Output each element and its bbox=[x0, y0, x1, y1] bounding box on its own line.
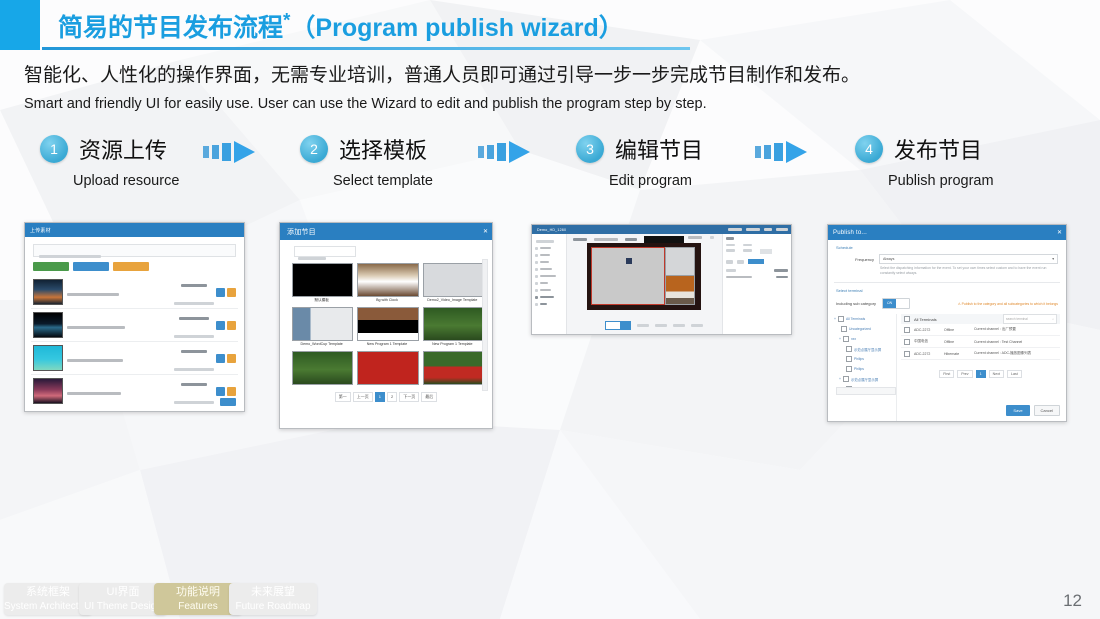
row-delete-button[interactable] bbox=[227, 288, 236, 297]
template-thumbnail bbox=[423, 263, 484, 297]
timeline-seg-3[interactable] bbox=[673, 324, 685, 327]
property-row bbox=[726, 244, 788, 247]
toolbar-item-preview[interactable] bbox=[625, 238, 637, 241]
terminal-search-placeholder: search terminal bbox=[1006, 317, 1028, 321]
pager-prev[interactable]: Prev bbox=[957, 370, 972, 378]
scrollbar-horizontal[interactable] bbox=[836, 387, 896, 395]
file-size bbox=[172, 373, 216, 409]
palette-heading bbox=[536, 240, 554, 243]
pager-page-1[interactable]: 1 bbox=[976, 370, 986, 378]
template-card[interactable]: 默认模板 bbox=[292, 263, 351, 303]
property-tabs bbox=[726, 259, 788, 264]
pager-next[interactable]: 下一页 bbox=[399, 392, 419, 402]
pager-first[interactable]: 第一 bbox=[335, 392, 351, 402]
terminal-table-header-label: All Terminals bbox=[914, 317, 937, 322]
template-card[interactable]: Demo2_Video_Image Template bbox=[423, 263, 482, 303]
toolbar-item-region[interactable] bbox=[594, 238, 618, 241]
file-name bbox=[67, 349, 172, 367]
step-label-cn: 资源上传 bbox=[79, 133, 167, 165]
upload-action-buttons bbox=[33, 262, 236, 271]
screenshot-publish-program[interactable]: Publish to... ✕ Schedule Frequency Alway… bbox=[827, 224, 1067, 422]
template-thumbnail bbox=[423, 307, 484, 341]
titlebar-actions bbox=[728, 228, 791, 231]
include-subcategory-label: Including sub category bbox=[836, 301, 876, 306]
editor-body bbox=[532, 234, 791, 334]
step-label-cn: 选择模板 bbox=[339, 133, 427, 165]
row-edit-button[interactable] bbox=[216, 321, 225, 330]
stage-region-main[interactable] bbox=[591, 247, 665, 305]
editor-properties-panel bbox=[722, 234, 791, 334]
palette-item-html[interactable] bbox=[535, 261, 566, 264]
dialog-titlebar: 上传素材 bbox=[25, 223, 244, 237]
toolbar-color-swatch[interactable] bbox=[644, 236, 684, 243]
row-edit-button[interactable] bbox=[216, 288, 225, 297]
app-title: Demo_HD_1280 bbox=[532, 228, 566, 232]
terminal-channel: Current channel : ADC-播放图像列表 bbox=[974, 351, 1057, 356]
terminal-pagination: First Prev 1 Next Last bbox=[901, 370, 1060, 378]
terminal-search-input[interactable]: search terminal ⌕ bbox=[1003, 314, 1057, 324]
titlebar-menu-2[interactable] bbox=[746, 228, 760, 231]
editor-element-palette bbox=[532, 234, 567, 334]
file-thumbnail bbox=[33, 378, 63, 404]
screenshot-edit-program[interactable]: Demo_HD_1280 bbox=[531, 224, 792, 335]
template-caption: New Program 1 Template bbox=[357, 342, 416, 347]
page-number: 12 bbox=[1063, 591, 1082, 611]
titlebar-menu-1[interactable] bbox=[728, 228, 742, 231]
program-stage[interactable] bbox=[587, 243, 701, 310]
template-thumbnail bbox=[357, 307, 418, 341]
terminal-status: Offline bbox=[944, 328, 970, 332]
toolbar-item-more[interactable] bbox=[710, 236, 714, 239]
file-name bbox=[67, 283, 172, 301]
nav-tab-label-en: Future Roadmap bbox=[229, 600, 317, 613]
row-edit-button[interactable] bbox=[216, 354, 225, 363]
include-subcategory-row: Including sub category ON ⚠ Publish to t… bbox=[836, 298, 1058, 309]
step-label-cn: 编辑节目 bbox=[615, 133, 703, 165]
template-card[interactable]: Bg with Clock bbox=[357, 263, 416, 303]
toggle-on-label: ON bbox=[883, 299, 896, 308]
template-thumbnail bbox=[292, 307, 353, 341]
add-file-button[interactable] bbox=[33, 262, 69, 271]
screenshot-upload-resource[interactable]: 上传素材 bbox=[24, 222, 245, 412]
wizard-step-2[interactable]: 2选择模板 Select template bbox=[300, 133, 427, 165]
select-all-checkbox[interactable] bbox=[904, 316, 910, 322]
row-edit-button[interactable] bbox=[216, 387, 225, 396]
page-title-cn: 简易的节目发布流程 bbox=[58, 14, 283, 42]
step-label-en: Upload resource bbox=[73, 173, 179, 189]
step-label-en: Edit program bbox=[609, 173, 692, 189]
table-row[interactable] bbox=[31, 309, 238, 342]
palette-item-text[interactable] bbox=[535, 282, 566, 285]
intro-text-cn: 智能化、人性化的操作界面，无需专业培训，普通人员即可通过引导一步一步完成节目制作… bbox=[24, 60, 860, 87]
property-tab-active[interactable] bbox=[748, 259, 764, 264]
row-checkbox[interactable] bbox=[904, 327, 910, 333]
table-row[interactable]: 中国电信 Offline Current channel : Test Chan… bbox=[901, 336, 1060, 348]
confirm-button[interactable] bbox=[220, 398, 236, 406]
template-thumbnail bbox=[357, 263, 418, 297]
pager-last[interactable]: 最后 bbox=[421, 392, 437, 402]
file-name bbox=[67, 382, 172, 400]
dialog-titlebar: Publish to... ✕ bbox=[828, 225, 1066, 240]
tree-node-philips-2[interactable]: Philips bbox=[846, 366, 896, 372]
wizard-step-1[interactable]: 1资源上传 Upload resource bbox=[40, 133, 167, 165]
timeline-seg-1[interactable] bbox=[637, 324, 649, 327]
timeline-seg-2[interactable] bbox=[655, 324, 667, 327]
palette-item-image[interactable] bbox=[535, 268, 566, 271]
frequency-select[interactable]: Always ▾ bbox=[879, 254, 1058, 264]
pager-last[interactable]: Last bbox=[1007, 370, 1022, 378]
pager-first[interactable]: First bbox=[939, 370, 954, 378]
file-size bbox=[172, 340, 216, 376]
row-delete-button[interactable] bbox=[227, 387, 236, 396]
tree-node-xxx[interactable]: +xxx bbox=[839, 336, 896, 342]
palette-item-video[interactable] bbox=[535, 289, 566, 292]
dialog-title: 添加节目 bbox=[280, 227, 316, 237]
palette-item-scroll-text[interactable] bbox=[535, 275, 566, 278]
table-row[interactable] bbox=[31, 342, 238, 375]
pager-page-1[interactable]: 1 bbox=[375, 392, 385, 402]
property-row bbox=[726, 249, 788, 254]
header-underline bbox=[42, 47, 690, 50]
stage-region-bottom-right[interactable] bbox=[665, 275, 695, 305]
template-pagination: 第一 上一页 1 2 下一页 最后 bbox=[280, 392, 492, 402]
toolbar-item-program-props[interactable] bbox=[573, 238, 587, 241]
dialog-titlebar: 添加节目 ✕ bbox=[280, 223, 492, 240]
close-icon[interactable]: ✕ bbox=[483, 228, 492, 235]
chevron-down-icon: ▾ bbox=[1052, 257, 1057, 261]
step-arrow-1-icon bbox=[203, 141, 263, 163]
row-actions bbox=[216, 321, 236, 330]
template-caption: Bg with Clock bbox=[357, 298, 416, 303]
header-accent-block bbox=[0, 0, 40, 50]
template-caption: 默认模板 bbox=[292, 298, 351, 303]
dialog-title: 上传素材 bbox=[25, 227, 51, 234]
bottom-navigation: 系统框架 System Architecture UI界面 UI Theme D… bbox=[0, 579, 1100, 619]
table-row[interactable] bbox=[31, 276, 238, 309]
slide-header: 简易的节目发布流程*（Program publish wizard） bbox=[0, 0, 1100, 52]
pager-next[interactable]: Next bbox=[989, 370, 1004, 378]
dialog-title: Publish to... bbox=[828, 230, 867, 236]
row-delete-button[interactable] bbox=[227, 354, 236, 363]
template-thumbnail bbox=[423, 351, 484, 385]
page-title-en: （Program publish wizard） bbox=[290, 14, 623, 42]
app-titlebar: Demo_HD_1280 bbox=[532, 225, 791, 234]
expand-icon[interactable]: + bbox=[839, 337, 841, 341]
terminal-channel: Current channel : 出厂预置 bbox=[974, 327, 1057, 332]
terminal-channel: Current channel : Test Channel bbox=[974, 340, 1057, 344]
editor-canvas[interactable] bbox=[567, 234, 722, 334]
start-upload-button[interactable] bbox=[73, 262, 109, 271]
editor-toolbar bbox=[573, 236, 684, 243]
template-card[interactable]: New Program 1 Template bbox=[357, 307, 416, 347]
warning-icon: ⚠ bbox=[958, 302, 961, 306]
property-list-header bbox=[726, 269, 788, 272]
template-thumbnail bbox=[292, 263, 353, 297]
step-label-en: Publish program bbox=[888, 173, 994, 189]
table-row[interactable] bbox=[31, 375, 238, 407]
wizard-step-3[interactable]: 3编辑节目 Edit program bbox=[576, 133, 703, 165]
nav-tab-label-cn: 未来展望 bbox=[229, 583, 317, 600]
step-arrow-2-icon bbox=[478, 141, 538, 163]
template-caption: Demo_WordCup Template bbox=[292, 342, 351, 347]
stage-region-handle[interactable] bbox=[626, 258, 632, 264]
include-subcategory-toggle[interactable]: ON bbox=[882, 298, 910, 309]
row-checkbox[interactable] bbox=[904, 351, 910, 357]
file-thumbnail bbox=[33, 279, 63, 305]
palette-item-settings[interactable] bbox=[535, 303, 566, 306]
template-card[interactable]: New Program 1 Template bbox=[423, 307, 482, 347]
frequency-hint: Select the dispatching information for t… bbox=[880, 266, 1058, 276]
file-name bbox=[67, 316, 172, 334]
tree-node-showroom-1[interactable]: 示范点展厅显示屏 bbox=[846, 346, 896, 352]
palette-item-clock[interactable] bbox=[535, 254, 566, 257]
upload-dropzone[interactable] bbox=[33, 244, 236, 257]
step-arrow-3-icon bbox=[755, 141, 815, 163]
pager-prev[interactable]: 上一页 bbox=[353, 392, 373, 402]
section-terminal-title: Select terminal bbox=[836, 288, 1066, 293]
stage-region-top-right[interactable] bbox=[665, 247, 695, 276]
tree-node-showroom-2[interactable]: +示范点展厅显示屏 bbox=[839, 376, 896, 382]
row-checkbox[interactable] bbox=[904, 339, 910, 345]
close-icon[interactable]: ✕ bbox=[1057, 229, 1066, 236]
terminal-name: ADC-2272 bbox=[914, 328, 940, 332]
dialog-footer: Save Cancel bbox=[1006, 405, 1060, 416]
property-picker[interactable] bbox=[760, 249, 772, 254]
publish-warning-text: ⚠ Publish to the category and all subcat… bbox=[958, 302, 1058, 306]
tree-node-uncategorized[interactable]: Uncategorized bbox=[841, 326, 896, 332]
table-row[interactable]: ADC-2272 Hibernate Current channel : ADC… bbox=[901, 348, 1060, 360]
frequency-row: Frequency Always ▾ bbox=[836, 254, 1058, 264]
dropzone-placeholder bbox=[39, 255, 101, 258]
row-actions bbox=[216, 354, 236, 363]
file-thumbnail bbox=[33, 345, 63, 371]
editor-timeline bbox=[605, 321, 703, 330]
tree-node-all-terminals[interactable]: +All Terminals bbox=[834, 316, 896, 322]
template-card[interactable] bbox=[292, 351, 351, 386]
property-list-row[interactable] bbox=[726, 276, 788, 279]
step-label-en: Select template bbox=[333, 173, 433, 189]
terminal-name: ADC-2272 bbox=[914, 352, 940, 356]
titlebar-menu-3[interactable] bbox=[764, 228, 772, 231]
cancel-button[interactable]: Cancel bbox=[1034, 405, 1060, 416]
palette-item-weather[interactable] bbox=[535, 296, 566, 299]
screenshot-select-template[interactable]: 添加节目 ✕ 默认模板 Bg with Clock Demo2_Video_Im… bbox=[279, 222, 493, 429]
template-card[interactable] bbox=[357, 351, 416, 386]
divider bbox=[834, 282, 1060, 283]
terminal-name: 中国电信 bbox=[914, 339, 940, 344]
terminal-status: Hibernate bbox=[944, 352, 970, 356]
properties-heading bbox=[726, 237, 734, 240]
template-search-input[interactable] bbox=[294, 246, 356, 257]
step-number-badge: 2 bbox=[300, 135, 328, 163]
save-button[interactable]: Save bbox=[1006, 405, 1029, 416]
template-thumbnail bbox=[357, 351, 418, 385]
row-actions bbox=[216, 387, 236, 396]
cancel-upload-button[interactable] bbox=[113, 262, 149, 271]
frequency-label: Frequency bbox=[836, 257, 874, 262]
tree-node-philips-1[interactable]: Philips bbox=[846, 356, 896, 362]
timeline-play-group[interactable] bbox=[605, 321, 631, 330]
file-thumbnail bbox=[33, 312, 63, 338]
terminal-category-tree: +All Terminals Uncategorized +xxx 示范点展厅显… bbox=[834, 314, 897, 422]
terminal-status: Offline bbox=[944, 340, 970, 344]
pager-page-2[interactable]: 2 bbox=[387, 392, 397, 402]
frequency-value: Always bbox=[883, 257, 894, 261]
template-thumbnail bbox=[292, 351, 353, 385]
toolbar-item-save[interactable] bbox=[688, 236, 702, 239]
step-label-cn: 发布节目 bbox=[894, 133, 982, 165]
upload-file-list bbox=[31, 276, 238, 407]
row-delete-button[interactable] bbox=[227, 321, 236, 330]
page-title: 简易的节目发布流程*（Program publish wizard） bbox=[58, 8, 624, 44]
template-card[interactable] bbox=[423, 351, 482, 386]
template-caption: New Program 1 Template bbox=[423, 342, 482, 347]
wizard-steps: 1资源上传 Upload resource 2选择模板 Select templ… bbox=[0, 133, 1100, 203]
template-card[interactable]: Demo_WordCup Template bbox=[292, 307, 351, 347]
file-size bbox=[172, 307, 216, 343]
step-number-badge: 3 bbox=[576, 135, 604, 163]
step-number-badge: 4 bbox=[855, 135, 883, 163]
search-icon[interactable]: ⌕ bbox=[1052, 317, 1054, 321]
timeline-seg-4[interactable] bbox=[691, 324, 703, 327]
expand-icon[interactable]: + bbox=[839, 377, 841, 381]
editor-toolbar-right bbox=[688, 236, 714, 239]
step-number-badge: 1 bbox=[40, 135, 68, 163]
template-grid: 默认模板 Bg with Clock Demo2_Video_Image Tem… bbox=[292, 263, 482, 386]
section-schedule-title: Schedule bbox=[836, 245, 1066, 250]
template-caption: Demo2_Video_Image Template bbox=[423, 298, 482, 303]
row-actions bbox=[216, 288, 236, 297]
terminal-table-header: All Terminals search terminal ⌕ bbox=[901, 314, 1060, 324]
intro-text-en: Smart and friendly UI for easily use. Us… bbox=[24, 96, 707, 112]
palette-item-audio[interactable] bbox=[535, 247, 566, 250]
table-row[interactable]: ADC-2272 Offline Current channel : 出厂预置 bbox=[901, 324, 1060, 336]
scrollbar-vertical[interactable] bbox=[482, 259, 488, 391]
titlebar-menu-4[interactable] bbox=[776, 228, 788, 231]
expand-icon[interactable]: + bbox=[834, 317, 836, 321]
file-size bbox=[172, 274, 216, 310]
wizard-step-4[interactable]: 4发布节目 Publish program bbox=[855, 133, 982, 165]
nav-tab-future-roadmap[interactable]: 未来展望 Future Roadmap bbox=[229, 583, 317, 615]
